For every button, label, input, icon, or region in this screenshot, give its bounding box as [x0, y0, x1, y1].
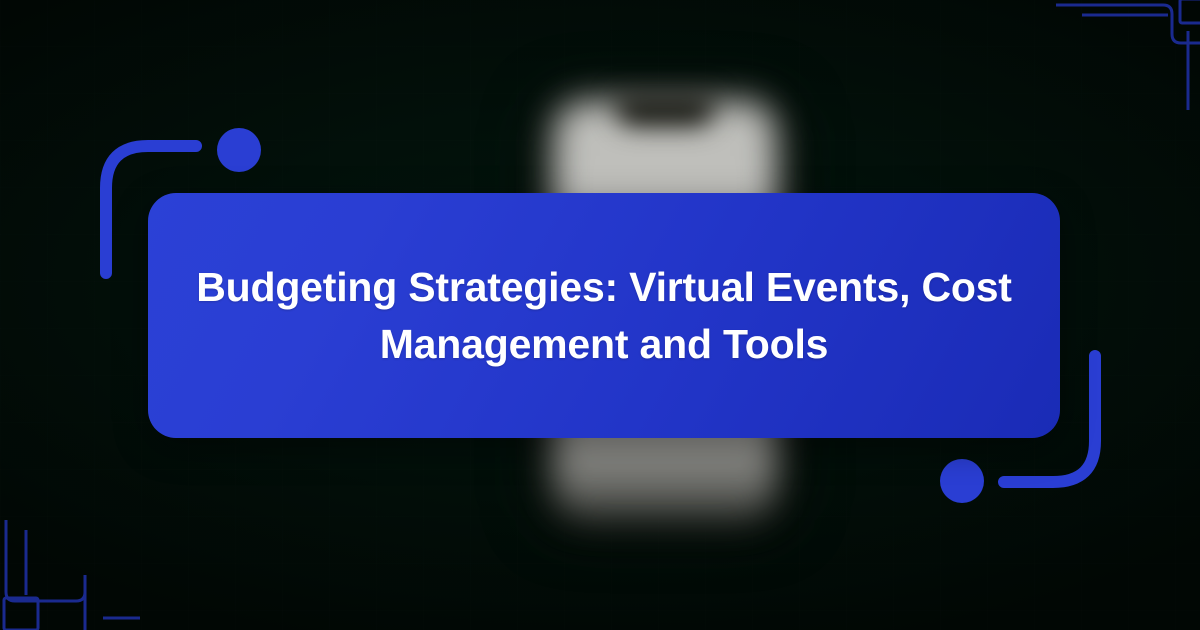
social-card-canvas: Budgeting Strategies: Virtual Events, Co… — [0, 0, 1200, 630]
page-title: Budgeting Strategies: Virtual Events, Co… — [189, 259, 1019, 372]
smartphone-notch-icon — [617, 96, 713, 126]
title-card: Budgeting Strategies: Virtual Events, Co… — [148, 193, 1060, 438]
